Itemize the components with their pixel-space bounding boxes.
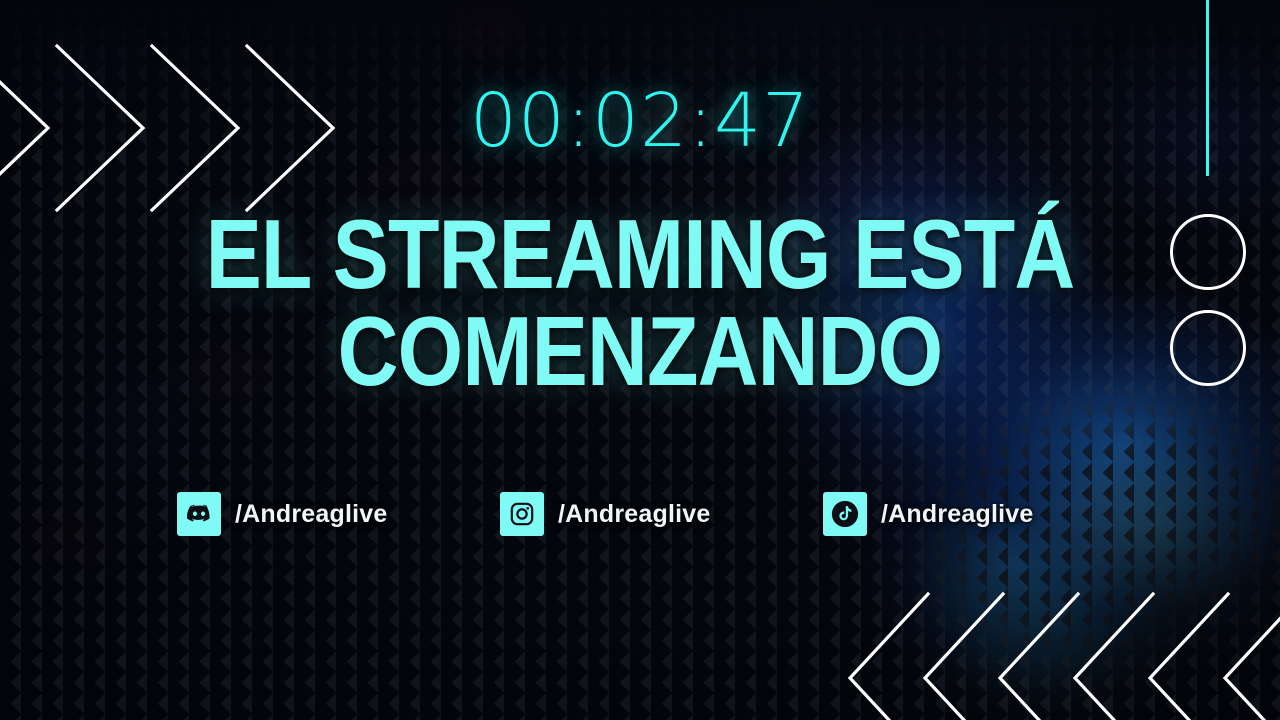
instagram-icon [500,492,544,536]
discord-icon [177,492,221,536]
social-link-discord[interactable]: /Andreaglive [177,492,500,536]
headline-line-1: EL STREAMING ESTÁ [90,206,1191,303]
headline-line-2: COMENZANDO [90,303,1191,400]
social-handle-instagram: /Andreaglive [558,500,710,529]
social-handle-tiktok: /Andreaglive [881,500,1033,529]
social-handle-discord: /Andreaglive [235,500,387,529]
social-link-instagram[interactable]: /Andreaglive [500,492,823,536]
tiktok-icon [823,492,867,536]
page-title: EL STREAMING ESTÁ COMENZANDO [90,206,1191,400]
social-links-row: /Andreaglive /Andreaglive [177,492,1146,536]
countdown-timer: 00:02:47 [0,84,1280,158]
stream-starting-overlay: 00:02:47 EL STREAMING ESTÁ COMENZANDO /A… [0,0,1280,720]
social-link-tiktok[interactable]: /Andreaglive [823,492,1146,536]
